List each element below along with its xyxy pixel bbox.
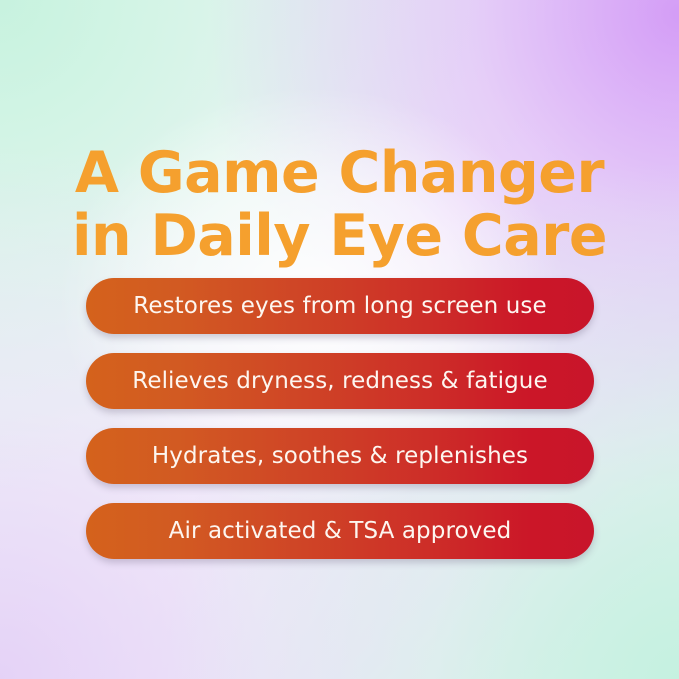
benefit-pill-label: Restores eyes from long screen use	[133, 293, 546, 319]
benefit-pill-label: Air activated & TSA approved	[169, 518, 512, 544]
benefit-pill-2: Relieves dryness, redness & fatigue	[86, 353, 594, 409]
benefit-pill-3: Hydrates, soothes & replenishes	[86, 428, 594, 484]
benefit-pill-4: Air activated & TSA approved	[86, 503, 594, 559]
poster-content: A Game Changer in Daily Eye Care Restore…	[0, 0, 679, 679]
benefit-pill-label: Hydrates, soothes & replenishes	[152, 443, 528, 469]
headline-line-1: A Game Changer	[0, 142, 679, 205]
page-title: A Game Changer in Daily Eye Care	[0, 142, 679, 268]
benefit-pill-1: Restores eyes from long screen use	[86, 278, 594, 334]
headline-line-2: in Daily Eye Care	[0, 205, 679, 268]
benefit-list: Restores eyes from long screen use Relie…	[86, 278, 594, 559]
benefit-pill-label: Relieves dryness, redness & fatigue	[132, 368, 547, 394]
promo-poster: A Game Changer in Daily Eye Care Restore…	[0, 0, 679, 679]
